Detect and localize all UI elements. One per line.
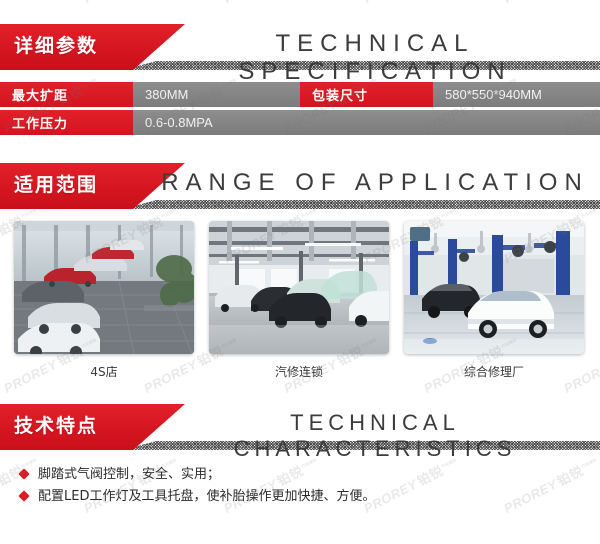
list-item: 配置LED工作灯及工具托盘，使补胎操作更加快捷、方便。 [20,488,600,505]
photo-general-repair-shop-with-lifts [404,221,584,354]
watermark-text: PROREY铂锐汽车维修 [220,0,322,8]
section-title-cn: 适用范围 [14,170,98,197]
application-caption: 综合修理厂 [404,354,584,380]
section-header-technical-characteristics: 技术特点 TECHNICAL CHARACTERISTICS [0,398,600,456]
section-title-en: RANGE OF APPLICATION [150,169,600,197]
product-spec-page: 详细参数 TECHNICAL SPECIFICATION 最大扩距 380MM … [0,0,600,544]
section-title-en: TECHNICAL CHARACTERISTICS [150,410,600,462]
list-item: 脚踏式气阀控制，安全、实用； [20,466,600,483]
application-photo-gallery: 4S店 [0,215,600,380]
watermark-text: PROREY铂锐汽车维修 [0,0,42,8]
table-row: 工作压力 0.6-0.8MPA [0,110,600,135]
diamond-bullet-icon [18,468,29,479]
photo-car-dealership-showroom [14,221,194,354]
application-caption: 4S店 [14,354,194,380]
application-caption: 汽修连锁 [209,354,389,380]
application-card: 汽修连锁 [209,221,389,380]
application-card: 4S店 [14,221,194,380]
spec-value: 0.6-0.8MPA [133,110,600,135]
characteristic-text: 配置LED工作灯及工具托盘，使补胎操作更加快捷、方便。 [38,488,375,505]
watermark-text: PROREY铂锐汽车维修 [500,0,600,8]
section-header-range-of-application: 适用范围 RANGE OF APPLICATION [0,157,600,215]
hatch-stripe [124,200,600,209]
section-header-technical-specification: 详细参数 TECHNICAL SPECIFICATION [0,18,600,76]
photo-auto-repair-chain-workshop [209,221,389,354]
watermark-text: PROREY铂锐汽车维修 [360,0,462,8]
characteristic-text: 脚踏式气阀控制，安全、实用； [38,466,220,483]
spec-label: 最大扩距 [0,82,133,107]
watermark-text: PROREY铂锐汽车维修 [80,0,182,8]
diamond-bullet-icon [18,490,29,501]
section-title-en: TECHNICAL SPECIFICATION [150,30,600,86]
section-title-cn: 技术特点 [14,411,98,438]
application-card: 综合修理厂 [404,221,584,380]
spec-label: 工作压力 [0,110,133,135]
characteristics-list: 脚踏式气阀控制，安全、实用； 配置LED工作灯及工具托盘，使补胎操作更加快捷、方… [0,456,600,505]
section-title-cn: 详细参数 [14,31,98,58]
specification-table: 最大扩距 380MM 包装尺寸 580*550*940MM 工作压力 0.6-0… [0,82,600,135]
